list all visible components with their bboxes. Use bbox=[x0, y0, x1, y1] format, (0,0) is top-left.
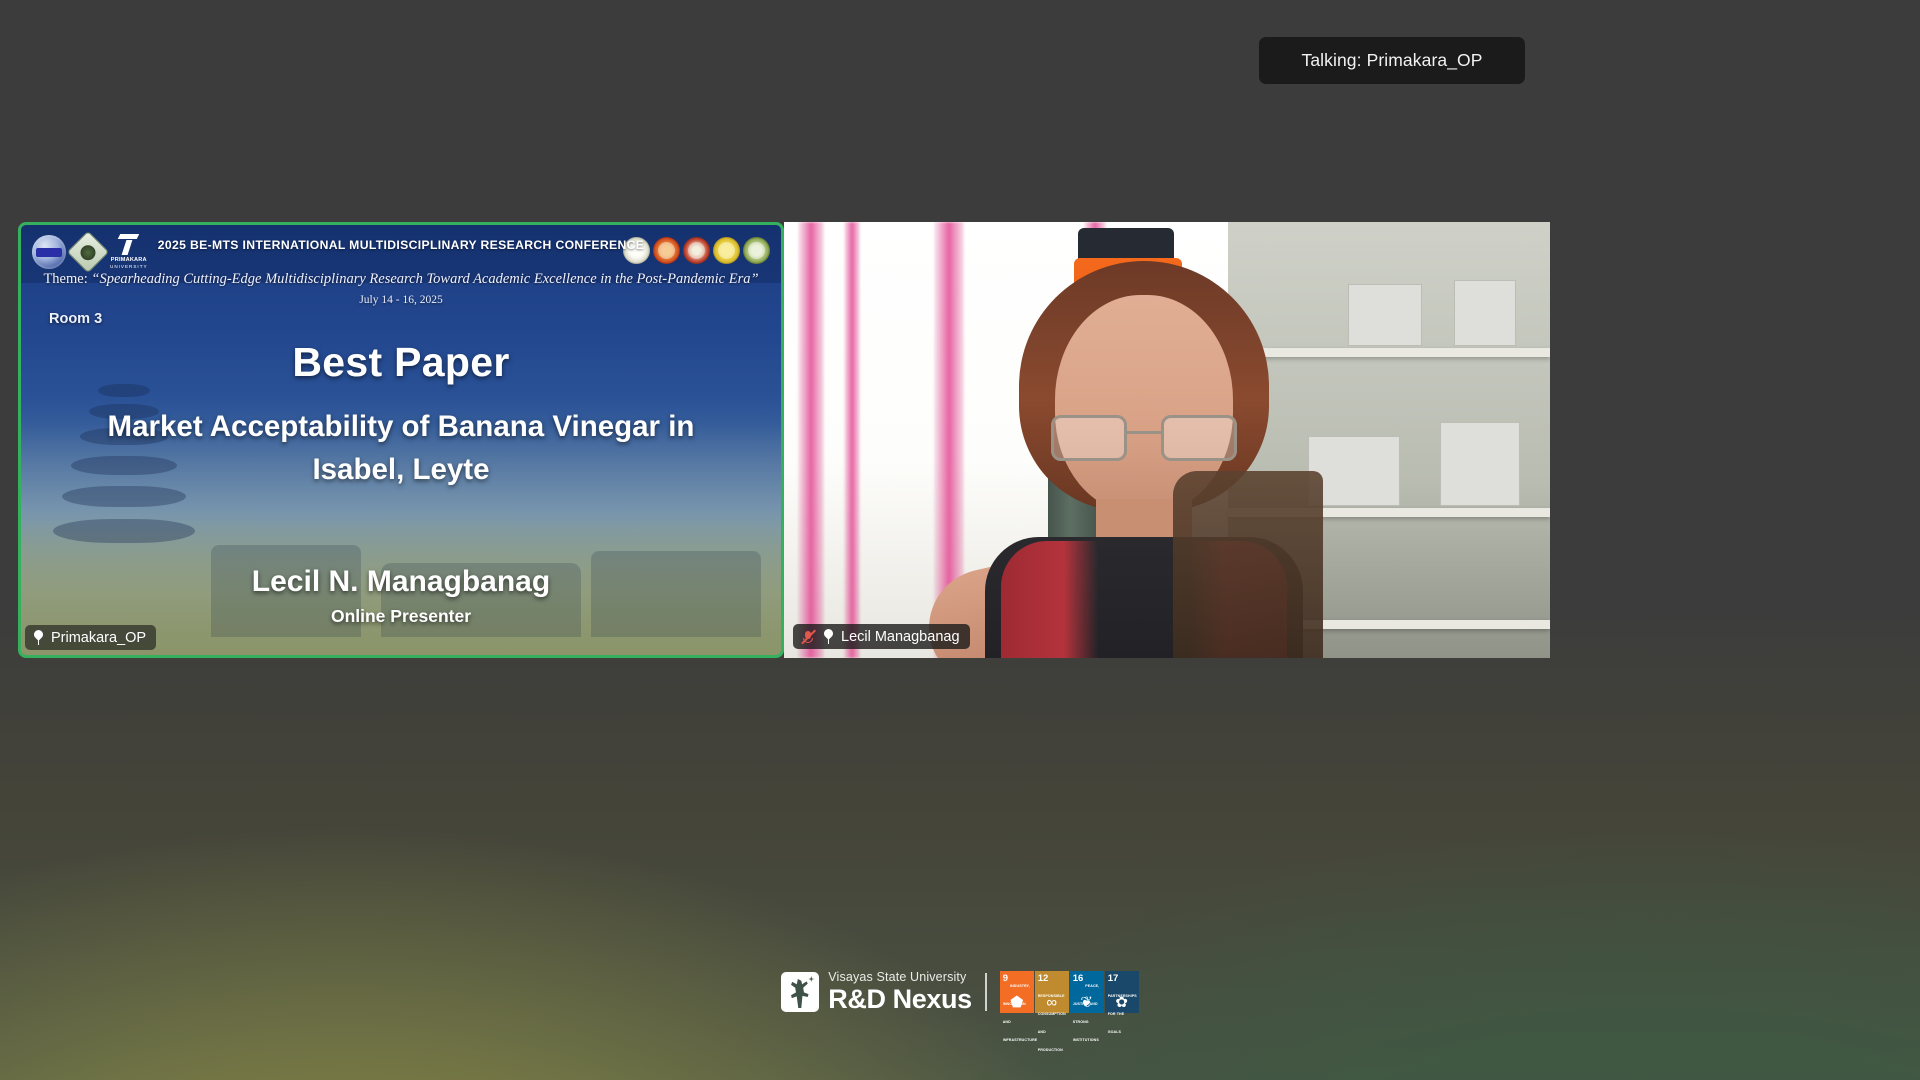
meeting-stage: Talking: Primakara_OP bbox=[0, 0, 1920, 1080]
participant-name: Primakara_OP bbox=[51, 631, 146, 646]
branding-university: Visayas State University bbox=[828, 971, 971, 984]
pin-icon bbox=[822, 629, 835, 644]
presenter-role: Online Presenter bbox=[21, 606, 781, 627]
sdg-glyph-icon: ⬟ bbox=[1000, 995, 1034, 1010]
participant-video-person bbox=[979, 261, 1309, 658]
video-grid: PRIMAKARA UNIVERSITY 2025 BE-MTS INTERNA… bbox=[18, 222, 1550, 658]
sdg-glyph-icon: ✿ bbox=[1105, 995, 1139, 1010]
vsu-rnd-nexus-logo-icon bbox=[781, 972, 819, 1012]
webcam-feed bbox=[784, 222, 1550, 658]
conference-title: 2025 BE-MTS INTERNATIONAL MULTIDISCIPLIN… bbox=[21, 238, 781, 252]
participant-name-label: Lecil Managbanag bbox=[793, 624, 970, 649]
shelf-box bbox=[1440, 422, 1520, 506]
microphone-muted-icon bbox=[800, 629, 816, 645]
primakara-logo-name: PRIMAKARA bbox=[111, 257, 147, 263]
talking-indicator: Talking: Primakara_OP bbox=[1259, 37, 1525, 84]
sdg-badge-9: 9 INDUSTRY, INNOVATION AND INFRASTRUCTUR… bbox=[1000, 971, 1034, 1013]
sdg-badges: 9 INDUSTRY, INNOVATION AND INFRASTRUCTUR… bbox=[1000, 971, 1139, 1013]
sdg-caption: INDUSTRY, INNOVATION AND INFRASTRUCTURE bbox=[1003, 984, 1038, 1042]
video-tile-primakara-op[interactable]: PRIMAKARA UNIVERSITY 2025 BE-MTS INTERNA… bbox=[18, 222, 784, 658]
conference-theme-text: “Spearheading Cutting-Edge Multidiscipli… bbox=[91, 271, 758, 287]
conference-theme: Theme: “Spearheading Cutting-Edge Multid… bbox=[21, 271, 781, 288]
shelf-box bbox=[1454, 280, 1516, 346]
sdg-number: 16 bbox=[1073, 974, 1084, 984]
sdg-badge-16: 16 PEACE, JUSTICE AND STRONG INSTITUTION… bbox=[1070, 971, 1104, 1013]
paper-title: Market Acceptability of Banana Vinegar i… bbox=[67, 405, 735, 492]
pin-icon bbox=[32, 630, 45, 645]
branding-bar: Visayas State University R&D Nexus 9 IND… bbox=[0, 962, 1920, 1022]
office-chair bbox=[1173, 471, 1323, 658]
curtain bbox=[798, 222, 824, 658]
eyeglasses bbox=[1051, 415, 1237, 463]
room-label: Room 3 bbox=[49, 311, 102, 327]
participant-name-label: Primakara_OP bbox=[25, 625, 156, 650]
sdg-number: 12 bbox=[1038, 974, 1049, 984]
sdg-badge-12: 12 RESPONSIBLE CONSUMPTION AND PRODUCTIO… bbox=[1035, 971, 1069, 1013]
participant-name: Lecil Managbanag bbox=[841, 630, 960, 645]
curtain bbox=[844, 222, 860, 658]
sdg-caption: PEACE, JUSTICE AND STRONG INSTITUTIONS bbox=[1073, 984, 1100, 1042]
award-title: Best Paper bbox=[21, 339, 781, 386]
conference-date: July 14 - 16, 2025 bbox=[21, 294, 781, 306]
branding-text: Visayas State University R&D Nexus bbox=[828, 971, 971, 1014]
sdg-number: 9 bbox=[1003, 974, 1008, 984]
sdg-badge-17: 17 PARTNERSHIPS FOR THE GOALS ✿ bbox=[1105, 971, 1139, 1013]
branding-program: R&D Nexus bbox=[828, 986, 971, 1013]
shelf-box bbox=[1348, 284, 1422, 346]
sdg-number: 17 bbox=[1108, 974, 1119, 984]
conference-theme-label: Theme: bbox=[43, 271, 87, 287]
sdg-glyph-icon: ❦ bbox=[1070, 995, 1104, 1010]
primakara-logo-sub: UNIVERSITY bbox=[110, 264, 148, 269]
sdg-glyph-icon: ∞ bbox=[1035, 995, 1069, 1010]
branding-divider bbox=[985, 973, 987, 1011]
talking-indicator-label: Talking: Primakara_OP bbox=[1301, 50, 1482, 71]
presenter-name: Lecil N. Managbanag bbox=[21, 565, 781, 599]
video-tile-lecil-managbanag[interactable]: Lecil Managbanag bbox=[784, 222, 1550, 658]
